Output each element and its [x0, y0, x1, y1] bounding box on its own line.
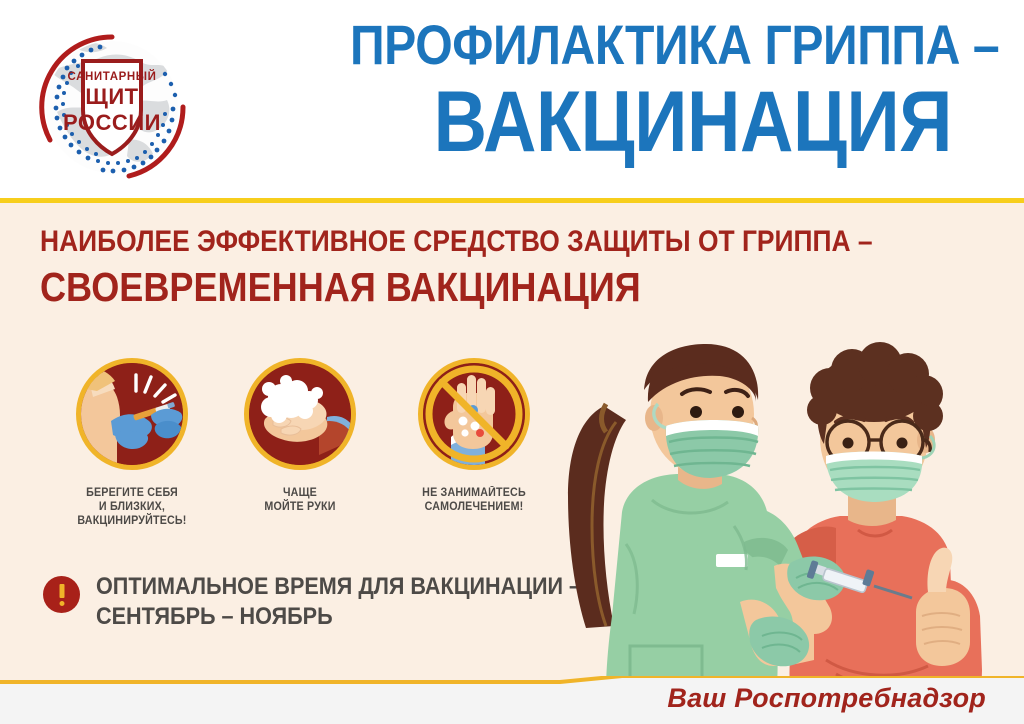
subtitle-line-2: СВОЕВРЕМЕННАЯ ВАКЦИНАЦИЯ: [40, 262, 867, 312]
poster-subtitle: НАИБОЛЕЕ ЭФФЕКТИВНОЕ СРЕДСТВО ЗАЩИТЫ ОТ …: [40, 222, 980, 312]
logo-line-2: ЩИТ: [85, 84, 138, 109]
advice-caption-wash-hands: ЧАЩЕ МОЙТЕ РУКИ: [226, 486, 375, 514]
note-line-2: СЕНТЯБРЬ – НОЯБРЬ: [96, 602, 581, 632]
caption-line-1: НЕ ЗАНИМАЙТЕСЬ: [400, 486, 549, 500]
caption-line-3: ВАКЦИНИРУЙТЕСЬ!: [58, 514, 207, 528]
caption-line-2: МОЙТЕ РУКИ: [226, 500, 375, 514]
poster: САНИТАРНЫЙ ЩИТ РОССИИ ПРОФИЛАКТИКА ГРИПП…: [0, 0, 1024, 724]
vaccination-syringe-arm-icon: [76, 358, 188, 470]
title-line-2: ВАКЦИНАЦИЯ: [350, 76, 952, 168]
exclamation-circle-icon: [43, 576, 80, 613]
advice-item-vaccinate: БЕРЕГИТЕ СЕБЯ И БЛИЗКИХ, ВАКЦИНИРУЙТЕСЬ!: [52, 358, 212, 528]
caption-line-1: БЕРЕГИТЕ СЕБЯ: [58, 486, 207, 500]
caption-line-1: ЧАЩЕ: [226, 486, 375, 500]
patient-figure: [780, 342, 982, 724]
advice-icon-row: БЕРЕГИТЕ СЕБЯ И БЛИЗКИХ, ВАКЦИНИРУЙТЕСЬ!: [52, 358, 552, 548]
note-line-1: ОПТИМАЛЬНОЕ ВРЕМЯ ДЛЯ ВАКЦИНАЦИИ –: [96, 572, 581, 602]
advice-caption-no-self-medication: НЕ ЗАНИМАЙТЕСЬ САМОЛЕЧЕНИЕМ!: [400, 486, 549, 514]
caption-line-2: И БЛИЗКИХ,: [58, 500, 207, 514]
advice-item-wash-hands: ЧАЩЕ МОЙТЕ РУКИ: [220, 358, 380, 514]
title-line-1: ПРОФИЛАКТИКА ГРИППА –: [350, 14, 952, 76]
no-self-medication-pills-icon: [418, 358, 530, 470]
nurse-vaccinating-patient-illustration: [530, 330, 1024, 724]
logo-line-3: РОССИИ: [63, 110, 161, 135]
logo-line-1: САНИТАРНЫЙ: [68, 70, 157, 83]
subtitle-line-1: НАИБОЛЕЕ ЭФФЕКТИВНОЕ СРЕДСТВО ЗАЩИТЫ ОТ …: [40, 222, 867, 262]
poster-title: ПРОФИЛАКТИКА ГРИППА – ВАКЦИНАЦИЯ: [252, 14, 952, 184]
sanitary-shield-logo: САНИТАРНЫЙ ЩИТ РОССИИ: [33, 28, 191, 186]
caption-line-2: САМОЛЕЧЕНИЕМ!: [400, 500, 549, 514]
washing-hands-soap-icon: [244, 358, 356, 470]
advice-caption-vaccinate: БЕРЕГИТЕ СЕБЯ И БЛИЗКИХ, ВАКЦИНИРУЙТЕСЬ!: [58, 486, 207, 528]
header-divider-rule: [0, 198, 1024, 203]
